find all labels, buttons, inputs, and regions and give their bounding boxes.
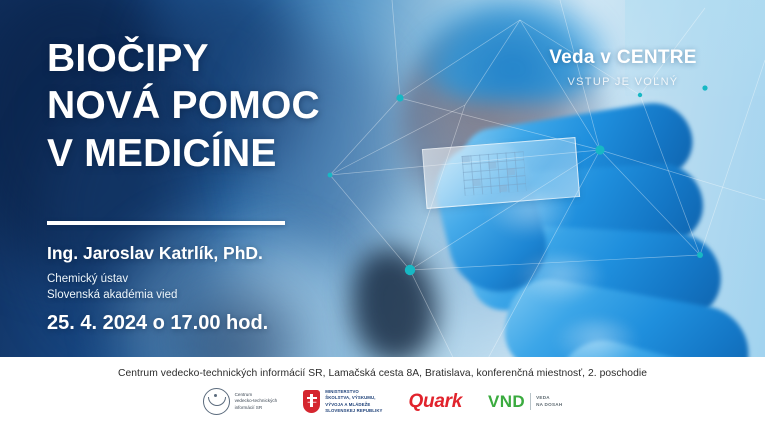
glove-highlight — [515, 255, 607, 305]
vnd-tagline: VEDA NA DOSAH — [536, 395, 562, 409]
biochip-cell — [507, 168, 515, 175]
quark-wordmark: Quark — [409, 391, 462, 413]
vnd-line-1: VEDA — [536, 395, 562, 402]
series-brand: Veda v CENTRE VSTUP JE VOĽNÝ — [523, 47, 723, 88]
poster-title: BIOČIPY NOVÁ POMOC V MEDICÍNE — [47, 38, 407, 174]
speaker-name: Ing. Jaroslav Katrlík, PhD. — [47, 243, 263, 264]
ministry-line-4: SLOVENSKEJ REPUBLIKY — [325, 408, 382, 414]
cvti-line-3: informácií SR — [235, 405, 278, 412]
title-line-2: NOVÁ POMOC — [47, 85, 407, 126]
brand-title: Veda v CENTRE — [523, 47, 723, 69]
title-line-1: BIOČIPY — [47, 38, 407, 79]
cvti-line-1: Centrum — [235, 392, 278, 399]
biochip-cell — [499, 185, 507, 192]
cvti-line-2: vedecko-technických — [235, 398, 278, 405]
title-line-3: V MEDICÍNE — [47, 133, 407, 174]
speaker-affiliation: Chemický ústav Slovenská akadémia vied — [47, 272, 177, 303]
event-datetime: 25. 4. 2024 o 17.00 hod. — [47, 312, 268, 335]
biochip-cell — [462, 155, 470, 162]
affiliation-line-2: Slovenská akadémia vied — [47, 288, 177, 304]
vnd-wordmark: VND — [488, 392, 525, 412]
ministry-line-2: ŠKOLSTVA, VÝSKUMU, — [325, 395, 382, 401]
affiliation-line-1: Chemický ústav — [47, 272, 177, 288]
brand-subtitle: VSTUP JE VOĽNÝ — [523, 76, 723, 88]
biochip-cell — [472, 179, 480, 186]
logo-vnd: VND VEDA NA DOSAH — [488, 392, 562, 412]
logo-ministry: MINISTERSTVO ŠKOLSTVA, VÝSKUMU, VÝVOJA A… — [303, 389, 382, 415]
slovak-coat-of-arms-icon — [303, 390, 320, 413]
title-divider-rule — [47, 221, 285, 225]
vnd-line-2: NA DOSAH — [536, 402, 562, 409]
biochip-grid — [462, 151, 527, 196]
ministry-wordmark: MINISTERSTVO ŠKOLSTVA, VÝSKUMU, VÝVOJA A… — [325, 389, 382, 415]
logo-quark: Quark — [409, 391, 462, 413]
cvti-wordmark: Centrum vedecko-technických informácií S… — [235, 392, 278, 412]
venue-address: Centrum vedecko-technických informácií S… — [0, 357, 765, 379]
logo-strip: Centrum vedecko-technických informácií S… — [0, 388, 765, 415]
logo-cvti: Centrum vedecko-technických informácií S… — [203, 388, 278, 415]
biochip-cell — [488, 161, 496, 168]
biochip-glass-slide — [422, 137, 580, 209]
event-poster: BIOČIPY NOVÁ POMOC V MEDICÍNE Ing. Jaros… — [0, 0, 765, 430]
cvti-emblem-icon — [203, 388, 230, 415]
footer-bar: Centrum vedecko-technických informácií S… — [0, 357, 765, 430]
vnd-divider — [530, 393, 531, 410]
